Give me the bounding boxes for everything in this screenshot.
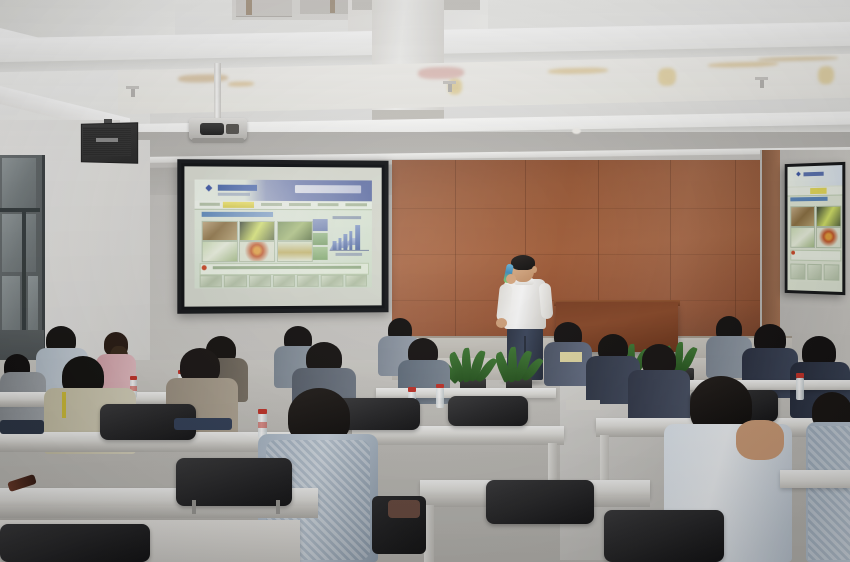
ceiling-downlight [572, 128, 581, 134]
display-slide-photo [790, 227, 815, 248]
slide-sidebar-block [313, 219, 327, 231]
audience-desk-edge [352, 437, 564, 445]
slide-nav-active-tab [223, 202, 253, 209]
chair-post [276, 500, 280, 514]
water-bottle-label [258, 422, 267, 428]
slide-thumbnail [345, 275, 367, 287]
chart-bar [349, 231, 352, 250]
wall-display-surface [788, 165, 843, 292]
slide-photo [202, 221, 238, 242]
audience-chair[interactable] [0, 524, 150, 562]
slide-3d-chart [330, 216, 369, 257]
projector-base [192, 138, 244, 143]
display-slide-header [788, 165, 843, 187]
slide-title-text [295, 186, 362, 194]
slide-nav-item [200, 203, 220, 206]
audience-member-shirt-pattern [808, 426, 850, 560]
slide-note-text [212, 266, 361, 269]
projection-screen-mat [181, 163, 384, 309]
desk-item [560, 352, 582, 362]
ceiling-vent [236, 0, 292, 17]
slide-photo [239, 221, 275, 242]
desk-item [174, 418, 232, 430]
slide-thumbnail [297, 275, 319, 287]
display-slide-photo [816, 227, 841, 248]
water-bottle-cap [408, 387, 416, 392]
chart-caption [332, 216, 361, 219]
audience-member-lanyard [62, 392, 66, 418]
ceiling-clip-bracket [126, 86, 139, 89]
audience-desk [780, 470, 850, 488]
slide-photo [202, 241, 238, 262]
ceiling-clip [131, 88, 135, 97]
presenter-hand-left [496, 318, 507, 328]
water-bottle-cap [796, 373, 804, 378]
chart-bar [355, 225, 360, 250]
water-bottle-cap [436, 384, 444, 388]
slide-note-bullet-icon [202, 265, 207, 270]
audience-chair[interactable] [486, 480, 594, 524]
water-bottle-cap [258, 409, 267, 414]
window-mullion [0, 208, 40, 212]
conference-hall-photo [0, 0, 850, 562]
display-slide-photo [790, 206, 815, 227]
vent-stain [246, 0, 252, 15]
slide-photo [277, 221, 313, 241]
display-thumbnail [807, 263, 822, 280]
slide-thumbnail [249, 275, 271, 287]
water-bottle-cap [130, 376, 137, 380]
chart-bar [344, 234, 347, 250]
slide-thumbnail [273, 275, 295, 287]
ceiling-clip [448, 83, 452, 92]
display-slide-note-bar [790, 249, 841, 261]
ceiling-clip [760, 79, 764, 88]
slide-sidebar-block [313, 247, 327, 259]
slide-thumbnail [200, 275, 222, 287]
slide-nav-item [289, 203, 310, 206]
audience-member-body [544, 342, 592, 386]
slide-nav-item [318, 203, 339, 206]
speaker-badge [96, 138, 118, 142]
window-pane [2, 214, 36, 272]
projector-lens [200, 123, 224, 135]
company-logo-text [804, 171, 824, 176]
projection-screen-surface [184, 166, 381, 306]
audience-chair[interactable] [604, 510, 724, 562]
water-bottle [436, 388, 444, 408]
display-slide-note-bullet-icon [791, 251, 795, 255]
company-logo-text [218, 185, 257, 191]
projection-screen[interactable] [177, 159, 388, 314]
presenter-ear [532, 266, 537, 273]
slide-sidebar-block [313, 233, 327, 245]
slide-photo [277, 241, 313, 261]
display-thumbnail [824, 264, 839, 281]
backpack-detail [388, 500, 420, 518]
audience-chair[interactable] [448, 396, 528, 426]
slide-nav-item [261, 203, 282, 206]
slide-thumbnail [224, 275, 246, 287]
ceiling-vent-2 [300, 0, 352, 14]
slide-sidebar-blocks [313, 219, 327, 260]
water-bottle [796, 378, 804, 400]
presenter-hand-right [506, 274, 516, 284]
ceiling-clip-bracket [443, 81, 456, 84]
display-slide-active-tab [810, 188, 827, 195]
ceiling-clip-bracket [755, 77, 768, 80]
desk-item [566, 400, 600, 410]
chart-bar [333, 241, 336, 250]
display-thumbnail-strip [790, 263, 839, 280]
company-logo-subtext [218, 193, 250, 196]
presentation-slide [194, 179, 372, 288]
vent-stain-2 [330, 0, 335, 13]
audience-member-neck [736, 420, 784, 460]
slide-thumbnail [321, 275, 343, 287]
display-slide-photo [816, 206, 841, 227]
audience-desk-edge [0, 506, 318, 518]
audience-chair[interactable] [176, 458, 292, 506]
wall-mounted-display[interactable] [785, 162, 846, 295]
slide-nav-item [346, 204, 367, 207]
projector-lens-housing [226, 124, 239, 134]
slide-section-heading [202, 212, 274, 217]
slide-photo [239, 241, 275, 262]
desk-item [0, 420, 44, 434]
projector-pole-mount [214, 63, 221, 123]
chart-subcaption [335, 253, 362, 256]
chart-bar [338, 238, 341, 250]
chair-post [192, 500, 196, 514]
display-slide-section-heading [791, 197, 828, 202]
display-thumbnail [790, 263, 805, 279]
window-pane [2, 158, 36, 210]
slide-thumbnail-strip [200, 275, 367, 288]
